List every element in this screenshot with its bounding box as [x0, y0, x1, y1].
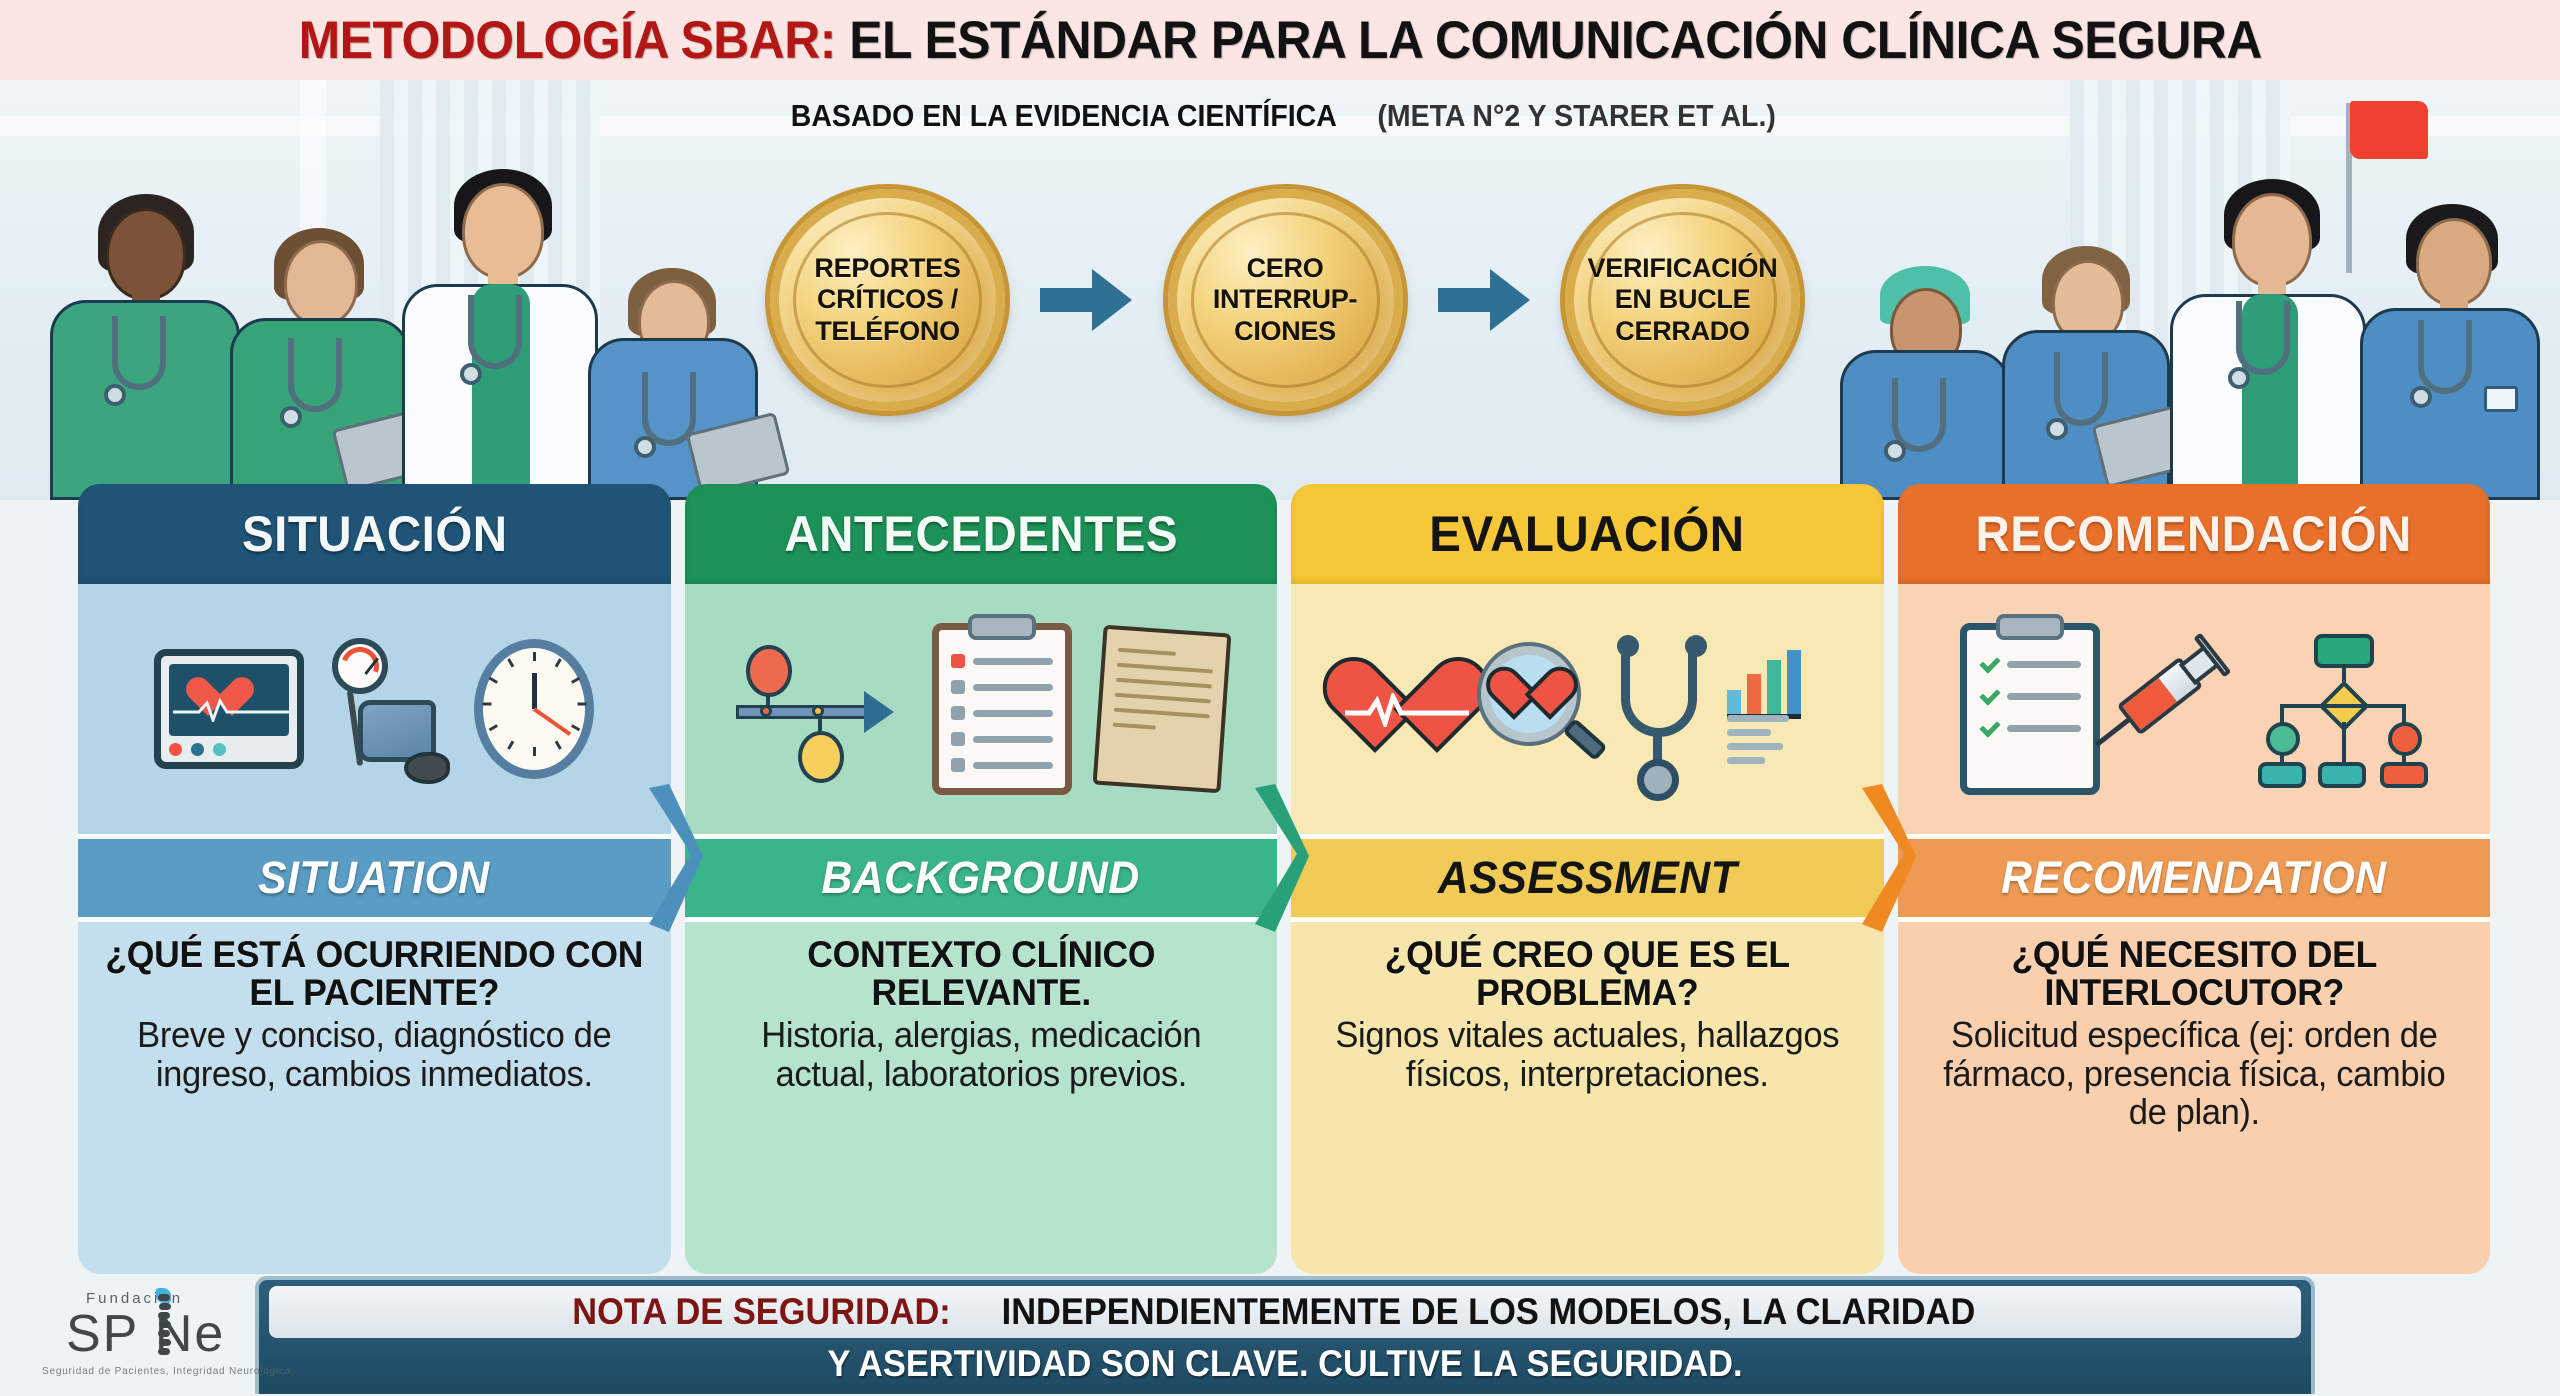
column-header-recomendacion: RECOMENDACIÓN	[1898, 484, 2491, 584]
sbar-column-situacion[interactable]: SITUACIÓN	[78, 484, 671, 1274]
clipboard-checklist-icon	[932, 623, 1072, 795]
staff-member	[588, 210, 758, 500]
column-detail: Breve y conciso, diagnóstico de ingreso,…	[105, 1016, 643, 1093]
flow-step-1[interactable]: REPORTES CRÍTICOS / TELÉFONO	[770, 189, 1005, 411]
column-question: ¿QUÉ CREO QUE ES EL PROBLEMA?	[1318, 936, 1856, 1012]
column-detail: Solicitud específica (ej: orden de fárma…	[1925, 1016, 2463, 1132]
clinical-staff-group-left-icon	[40, 140, 740, 500]
heart-ecg-icon	[1351, 653, 1471, 765]
sbar-column-antecedentes[interactable]: ANTECEDENTES	[685, 484, 1278, 1274]
column-body-situacion: ¿QUÉ ESTÁ OCURRIENDO CON EL PACIENTE? Br…	[78, 922, 671, 1274]
spine-icon	[158, 1294, 170, 1362]
page-title-bar: METODOLOGÍA SBAR: EL ESTÁNDAR PARA LA CO…	[0, 0, 2560, 80]
decision-flowchart-icon	[2258, 634, 2428, 784]
flow-step-2-label: CERO INTERRUP- CIONES	[1203, 253, 1367, 347]
column-icons-evaluacion	[1291, 584, 1884, 834]
chevron-right-icon	[647, 784, 705, 934]
staff-member	[2360, 170, 2540, 500]
column-header-evaluacion: EVALUACIÓN	[1291, 484, 1884, 584]
staff-member	[230, 190, 410, 500]
safety-note-highlight: NOTA DE SEGURIDAD:	[572, 1291, 951, 1333]
column-body-evaluacion: ¿QUÉ CREO QUE ES EL PROBLEMA? Signos vit…	[1291, 922, 1884, 1274]
staff-member-doctor	[402, 155, 598, 500]
column-body-antecedentes: CONTEXTO CLÍNICO RELEVANTE. Historia, al…	[685, 922, 1278, 1274]
organization-logo: Fundación SP Ne Seguridad de Pacientes, …	[28, 1288, 233, 1388]
column-question: ¿QUÉ NECESITO DEL INTERLOCUTOR?	[1925, 936, 2463, 1012]
column-detail: Historia, alergias, medicación actual, l…	[712, 1016, 1250, 1093]
stethoscope-icon	[1609, 629, 1717, 789]
flow-step-2[interactable]: CERO INTERRUP- CIONES	[1168, 189, 1403, 411]
bar-chart-icon	[1727, 643, 1823, 775]
column-header-situacion: SITUACIÓN	[78, 484, 671, 584]
chevron-right-icon	[1253, 784, 1311, 934]
column-english-situation: SITUATION	[78, 834, 671, 922]
safety-note-rest: INDEPENDIENTEMENTE DE LOS MODELOS, LA CL…	[1002, 1291, 1976, 1333]
clipboard-checks-icon	[1960, 623, 2100, 795]
subtitle-citation: (META N°2 Y STARER ET AL.)	[1378, 98, 1777, 134]
column-icons-situacion	[78, 584, 671, 834]
column-icons-recomendacion	[1898, 584, 2491, 834]
clinical-staff-group-right-icon	[1840, 140, 2540, 500]
subtitle-main: BASADO EN LA EVIDENCIA CIENTÍFICA	[790, 98, 1336, 134]
safety-note-line-2: Y ASERTIVIDAD SON CLAVE. CULTIVE LA SEGU…	[269, 1338, 2301, 1390]
page-title-rest: EL ESTÁNDAR PARA LA COMUNICACIÓN CLÍNICA…	[836, 11, 2262, 70]
syringe-icon	[2081, 610, 2276, 808]
timeline-milestones-icon	[736, 639, 906, 779]
clock-icon	[474, 639, 594, 779]
sbar-columns: SITUACIÓN	[78, 484, 2490, 1274]
column-title: RECOMENDACIÓN	[1976, 505, 2412, 563]
safety-note-banner: NOTA DE SEGURIDAD: INDEPENDIENTEMENTE DE…	[255, 1276, 2315, 1394]
logo-tagline: Seguridad de Pacientes, Integridad Neuro…	[42, 1366, 291, 1377]
column-icons-antecedentes	[685, 584, 1278, 834]
column-english-assessment: ASSESSMENT	[1291, 834, 1884, 922]
id-badge-icon	[2484, 386, 2518, 412]
flow-step-1-label: REPORTES CRÍTICOS / TELÉFONO	[804, 253, 970, 347]
staff-member	[1840, 210, 2010, 500]
arrow-right-icon	[1040, 269, 1132, 331]
column-english-recomendation: RECOMENDATION	[1898, 834, 2491, 922]
sbar-column-recomendacion[interactable]: RECOMENDACIÓN	[1898, 484, 2491, 1274]
arrow-right-icon	[1438, 269, 1530, 331]
column-title: EVALUACIÓN	[1430, 505, 1745, 563]
flow-step-3-label: VERIFICACIÓN EN BUCLE CERRADO	[1578, 253, 1788, 347]
staff-member	[50, 170, 240, 500]
cardiac-monitor-icon	[154, 649, 304, 769]
flow-step-3[interactable]: VERIFICACIÓN EN BUCLE CERRADO	[1565, 189, 1800, 411]
column-title: SITUACIÓN	[241, 505, 507, 563]
column-body-recomendacion: ¿QUÉ NECESITO DEL INTERLOCUTOR? Solicitu…	[1898, 922, 2491, 1274]
aged-document-icon	[1092, 625, 1231, 794]
magnifier-heart-icon	[1481, 646, 1599, 772]
page-title-highlight: METODOLOGÍA SBAR:	[298, 11, 835, 70]
logo-name-text: SP Ne	[66, 1304, 225, 1364]
column-detail: Signos vitales actuales, hallazgos físic…	[1318, 1016, 1856, 1093]
column-question: ¿QUÉ ESTÁ OCURRIENDO CON EL PACIENTE?	[105, 936, 643, 1012]
blood-pressure-cuff-icon	[330, 634, 448, 784]
page-title: METODOLOGÍA SBAR: EL ESTÁNDAR PARA LA CO…	[298, 10, 2261, 71]
subtitle: BASADO EN LA EVIDENCIA CIENTÍFICA (META …	[0, 98, 2560, 134]
evidence-flow: REPORTES CRÍTICOS / TELÉFONO CERO INTERR…	[770, 185, 1800, 415]
staff-member-doctor	[2170, 155, 2366, 500]
staff-member	[2002, 200, 2170, 500]
column-question: CONTEXTO CLÍNICO RELEVANTE.	[712, 936, 1250, 1012]
sbar-column-evaluacion[interactable]: EVALUACIÓN	[1291, 484, 1884, 1274]
safety-note-line-1: NOTA DE SEGURIDAD: INDEPENDIENTEMENTE DE…	[269, 1286, 2301, 1338]
chevron-right-icon	[1860, 784, 1918, 934]
column-header-antecedentes: ANTECEDENTES	[685, 484, 1278, 584]
column-title: ANTECEDENTES	[784, 505, 1178, 563]
column-english-background: BACKGROUND	[685, 834, 1278, 922]
